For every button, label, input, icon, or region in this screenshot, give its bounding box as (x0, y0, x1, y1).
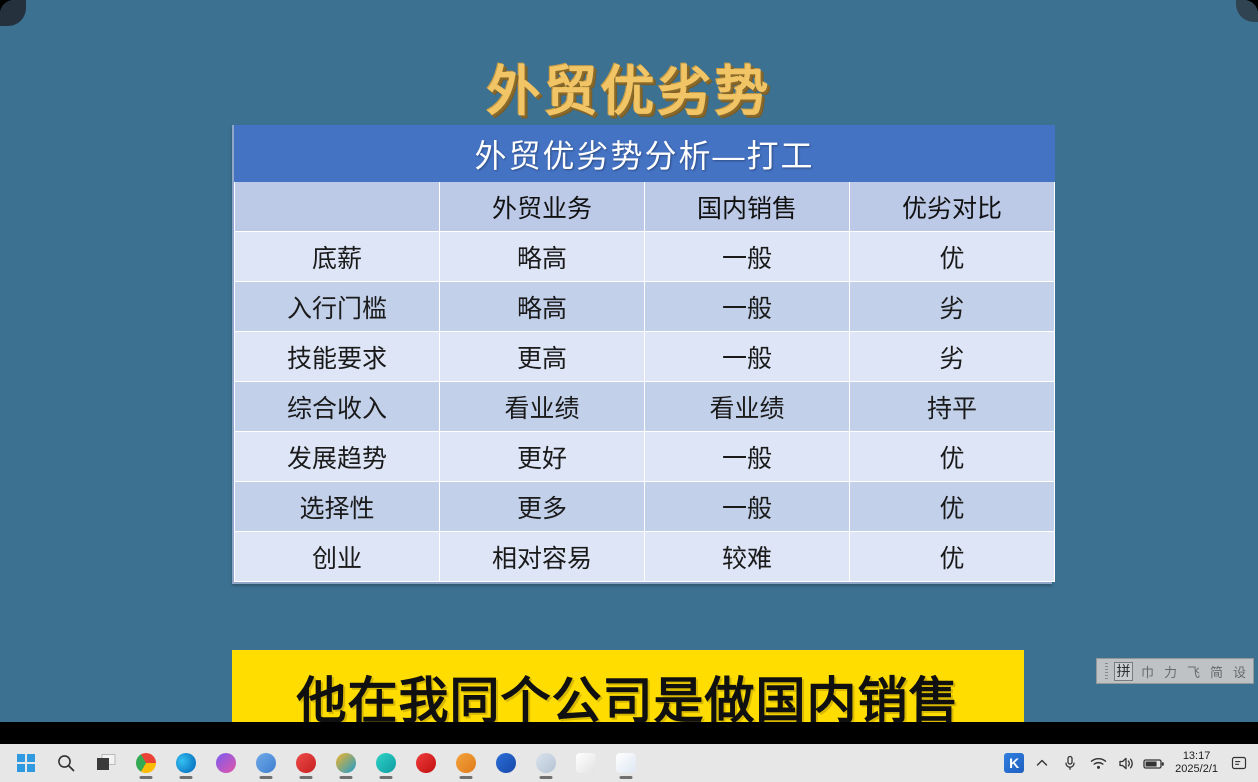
windows-taskbar: K (0, 744, 1258, 782)
table-banner-row: 外贸优劣势分析—打工 (235, 126, 1055, 182)
app11-button[interactable] (406, 744, 446, 782)
table-row: 技能要求更高一般劣 (235, 332, 1055, 382)
row-label-cell: 选择性 (235, 482, 440, 532)
column-header-comparison: 优劣对比 (850, 182, 1055, 232)
show-hidden-icons-button[interactable] (1029, 744, 1055, 782)
app14-button[interactable] (526, 744, 566, 782)
row-domestic-sales-cell: 一般 (645, 232, 850, 282)
table-row: 发展趋势更好一般优 (235, 432, 1055, 482)
row-label-cell: 创业 (235, 532, 440, 582)
app7-icon (256, 753, 276, 773)
app6-icon (216, 753, 236, 773)
column-header-blank (235, 182, 440, 232)
microphone-icon (1063, 755, 1077, 771)
table-row: 底薪略高一般优 (235, 232, 1055, 282)
row-domestic-sales-cell: 一般 (645, 332, 850, 382)
task-view-button[interactable] (86, 744, 126, 782)
row-foreign-trade-cell: 更高 (440, 332, 645, 382)
screen-root: 外贸优劣势 外贸优劣势分析—打工 外贸业务 国内销售 优劣对比 (0, 0, 1258, 782)
app10-icon (376, 753, 396, 773)
search-button[interactable] (46, 744, 86, 782)
row-foreign-trade-cell: 略高 (440, 232, 645, 282)
table-row: 选择性更多一般优 (235, 482, 1055, 532)
wifi-button[interactable] (1085, 744, 1111, 782)
ime-option5-icon[interactable]: 设 (1231, 662, 1248, 681)
row-domestic-sales-cell: 一般 (645, 432, 850, 482)
taskbar-tray-group: K (1001, 744, 1258, 782)
taskbar-left-group (0, 744, 126, 782)
volume-icon (1118, 756, 1135, 771)
app11-icon (416, 753, 436, 773)
row-verdict-cell: 优 (850, 232, 1055, 282)
comparison-table-body: 底薪略高一般优入行门槛略高一般劣技能要求更高一般劣综合收入看业绩看业绩持平发展趋… (235, 232, 1055, 582)
battery-icon (1143, 757, 1165, 770)
ime-toolbar[interactable]: 拼 巾 力 飞 简 设 (1096, 658, 1254, 684)
subtitle-caption: 他在我同个公司是做国内销售 (232, 650, 1024, 722)
app16-button[interactable] (606, 744, 646, 782)
edge-icon (176, 753, 196, 773)
row-foreign-trade-cell: 略高 (440, 282, 645, 332)
microphone-button[interactable] (1057, 744, 1083, 782)
row-domestic-sales-cell: 看业绩 (645, 382, 850, 432)
row-foreign-trade-cell: 更好 (440, 432, 645, 482)
app9-button[interactable] (326, 744, 366, 782)
clock-button[interactable]: 13:17 2025/2/1 (1169, 744, 1224, 782)
battery-button[interactable] (1141, 744, 1167, 782)
edge-button[interactable] (166, 744, 206, 782)
app13-icon (496, 753, 516, 773)
row-label-cell: 技能要求 (235, 332, 440, 382)
row-foreign-trade-cell: 更多 (440, 482, 645, 532)
app14-icon (536, 753, 556, 773)
row-label-cell: 综合收入 (235, 382, 440, 432)
taskbar-app-group (126, 744, 1001, 782)
app10-button[interactable] (366, 744, 406, 782)
ime-option2-icon[interactable]: 力 (1162, 662, 1179, 681)
row-label-cell: 入行门槛 (235, 282, 440, 332)
row-verdict-cell: 优 (850, 432, 1055, 482)
windows-logo-icon (17, 754, 35, 772)
slide-title: 外贸优劣势 (0, 47, 1258, 126)
column-header-foreign-trade: 外贸业务 (440, 182, 645, 232)
app15-button[interactable] (566, 744, 606, 782)
chrome-button[interactable] (126, 744, 166, 782)
table-row: 综合收入看业绩看业绩持平 (235, 382, 1055, 432)
subtitle-caption-text: 他在我同个公司是做国内销售 (297, 661, 960, 722)
comparison-table-container: 外贸优劣势分析—打工 外贸业务 国内销售 优劣对比 底薪略高一般优入行门槛略高一… (232, 125, 1052, 584)
table-row: 入行门槛略高一般劣 (235, 282, 1055, 332)
row-verdict-cell: 劣 (850, 282, 1055, 332)
table-header-row: 外贸业务 国内销售 优劣对比 (235, 182, 1055, 232)
row-verdict-cell: 优 (850, 482, 1055, 532)
ime-option1-icon[interactable]: 巾 (1139, 662, 1156, 681)
ime-option4-icon[interactable]: 简 (1208, 662, 1225, 681)
app12-button[interactable] (446, 744, 486, 782)
comparison-table: 外贸优劣势分析—打工 外贸业务 国内销售 优劣对比 底薪略高一般优入行门槛略高一… (234, 125, 1055, 582)
app16-icon (616, 753, 636, 773)
row-domestic-sales-cell: 一般 (645, 482, 850, 532)
wifi-icon (1090, 756, 1107, 770)
notification-icon (1231, 755, 1247, 771)
notification-button[interactable] (1226, 744, 1252, 782)
ime-drag-handle[interactable] (1105, 663, 1108, 679)
start-button[interactable] (6, 744, 46, 782)
row-label-cell: 发展趋势 (235, 432, 440, 482)
wps-k-icon: K (1004, 753, 1024, 773)
row-verdict-cell: 优 (850, 532, 1055, 582)
table-row: 创业相对容易较难优 (235, 532, 1055, 582)
chevron-up-icon (1035, 756, 1049, 770)
search-icon (56, 753, 76, 773)
app8-icon (296, 753, 316, 773)
row-verdict-cell: 劣 (850, 332, 1055, 382)
row-domestic-sales-cell: 较难 (645, 532, 850, 582)
ime-pinyin-mode-icon[interactable]: 拼 (1114, 662, 1133, 681)
app15-icon (576, 753, 596, 773)
app13-button[interactable] (486, 744, 526, 782)
ime-option3-icon[interactable]: 飞 (1185, 662, 1202, 681)
app6-button[interactable] (206, 744, 246, 782)
app8-button[interactable] (286, 744, 326, 782)
app7-button[interactable] (246, 744, 286, 782)
row-foreign-trade-cell: 看业绩 (440, 382, 645, 432)
row-domestic-sales-cell: 一般 (645, 282, 850, 332)
volume-button[interactable] (1113, 744, 1139, 782)
chrome-icon (136, 753, 156, 773)
row-verdict-cell: 持平 (850, 382, 1055, 432)
clock-date: 2025/2/1 (1175, 763, 1218, 776)
clock-time: 13:17 (1183, 750, 1211, 763)
wps-tray-button[interactable]: K (1001, 744, 1027, 782)
task-view-icon (96, 754, 116, 772)
presentation-slide: 外贸优劣势 外贸优劣势分析—打工 外贸业务 国内销售 优劣对比 (0, 0, 1258, 722)
row-foreign-trade-cell: 相对容易 (440, 532, 645, 582)
app12-icon (456, 753, 476, 773)
row-label-cell: 底薪 (235, 232, 440, 282)
column-header-domestic-sales: 国内销售 (645, 182, 850, 232)
app9-icon (336, 753, 356, 773)
table-banner-title: 外贸优劣势分析—打工 (235, 126, 1055, 182)
